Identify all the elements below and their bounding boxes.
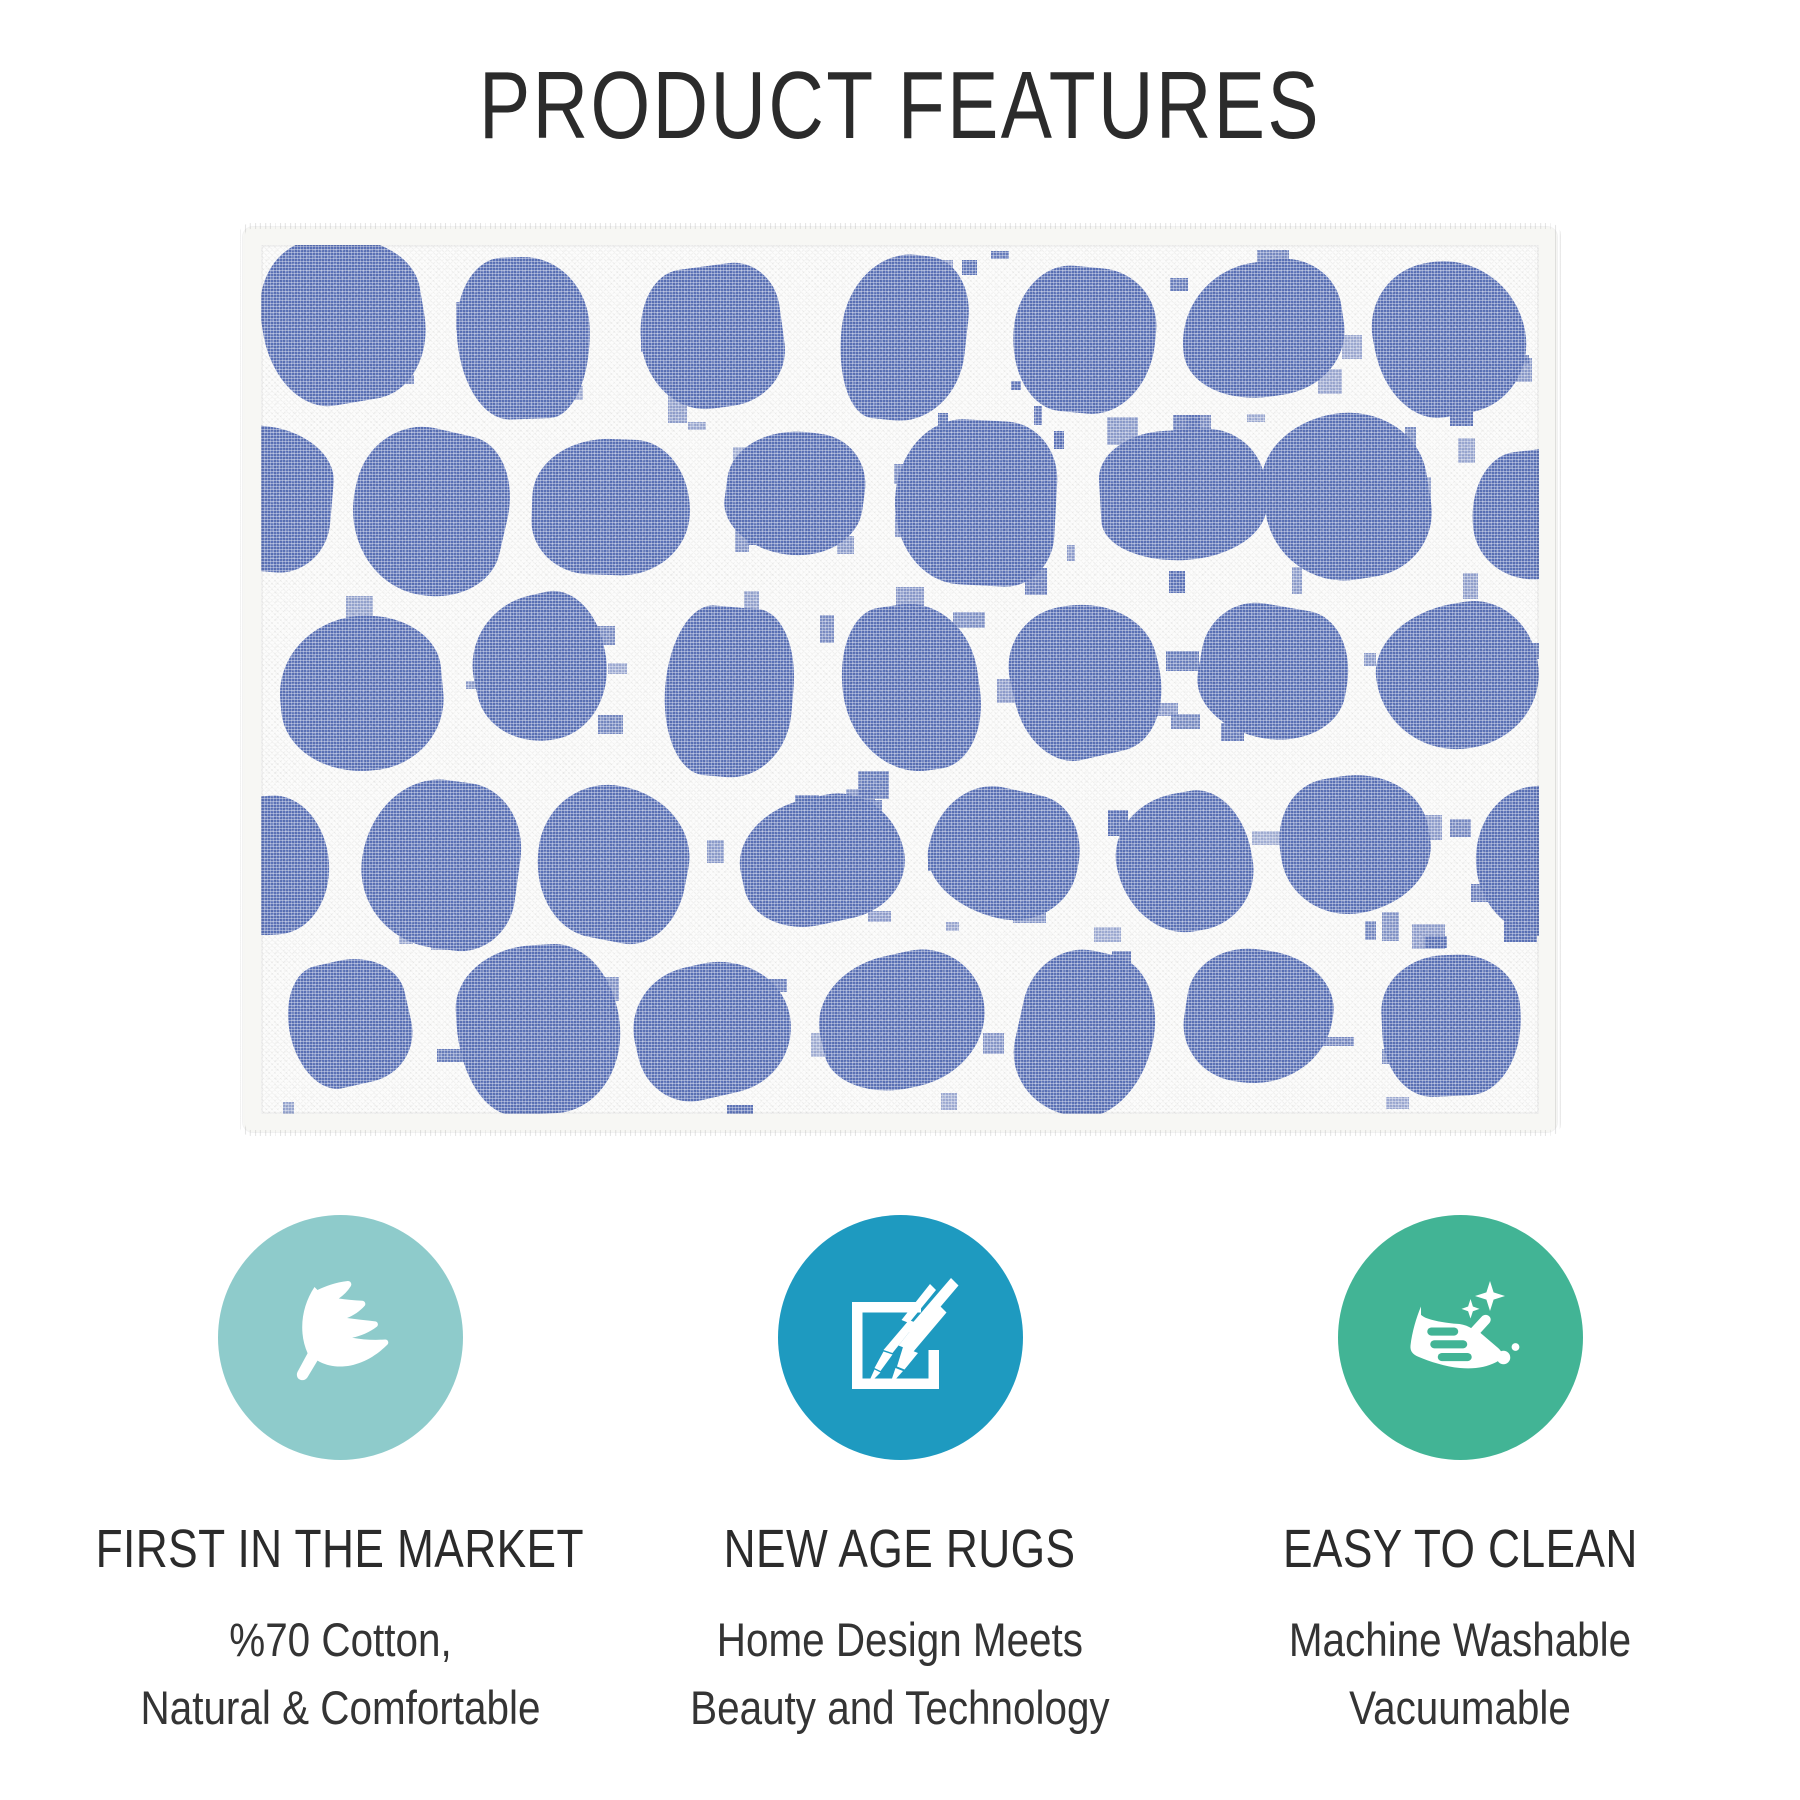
feature-list: FIRST IN THE MARKET %70 Cotton, Natural …	[0, 1215, 1800, 1742]
rug-pattern-shape	[1268, 245, 1451, 253]
rug-pattern-step	[1042, 689, 1052, 709]
rug-pattern-shape	[1366, 592, 1539, 762]
rug-pattern-shape	[1001, 939, 1169, 1114]
rug-pattern-step	[1221, 723, 1244, 741]
rug-pattern-shape	[261, 421, 338, 578]
feature-subtitle-line: Vacuumable	[1289, 1674, 1631, 1742]
rug-pattern-step	[1011, 381, 1021, 390]
rug-pattern-step	[1450, 819, 1471, 837]
rug-pattern-step	[1004, 873, 1021, 898]
rug-pattern-step	[668, 395, 687, 423]
rug-pattern-step	[707, 840, 724, 863]
rug-pattern-step	[1422, 477, 1431, 504]
rug-pattern-step	[283, 1102, 294, 1114]
rug-pattern-step	[1227, 825, 1237, 847]
rug-pattern-shape	[530, 437, 692, 578]
rug-pattern-step	[811, 1033, 839, 1057]
rug-pattern-step	[547, 881, 566, 895]
feature-subtitle-line: Natural & Comfortable	[140, 1674, 540, 1742]
rug-pattern-step	[953, 612, 985, 628]
rug-pattern-shape	[352, 770, 531, 958]
rug-pattern-shape	[277, 949, 422, 1098]
rug-pattern-step	[602, 977, 619, 1001]
rug-pattern-step	[764, 979, 787, 992]
rug-pattern-step	[1065, 688, 1090, 701]
rug-pattern-step	[868, 911, 891, 922]
rug-pattern-step	[1181, 877, 1199, 885]
rug-pattern-step	[1025, 568, 1047, 595]
rug-pattern-shape	[658, 602, 800, 782]
feature-title: NEW AGE RUGS	[724, 1522, 1076, 1576]
rug-pattern-step	[1187, 415, 1211, 438]
rug-pattern-step	[727, 1105, 753, 1114]
rug-pattern-step	[325, 988, 333, 1011]
feature-item-first-in-the-market: FIRST IN THE MARKET %70 Cotton, Natural …	[60, 1215, 620, 1742]
feature-subtitle: %70 Cotton, Natural & Comfortable	[140, 1606, 540, 1742]
rug-pattern-step	[1364, 653, 1376, 666]
rug-pattern-step	[1247, 414, 1265, 422]
feature-subtitle: Machine Washable Vacuumable	[1289, 1606, 1631, 1742]
rug-pattern-step	[1321, 339, 1335, 348]
rug-pattern-shape	[553, 1113, 731, 1114]
rug-pattern-step	[417, 819, 441, 837]
rug-pattern-step	[912, 457, 935, 485]
rug-pattern-step	[983, 1033, 1004, 1054]
rug-pattern-step	[466, 681, 478, 689]
rug-pattern-step	[566, 386, 583, 400]
rug-pattern-step	[862, 800, 882, 828]
rug-pattern-step	[305, 700, 337, 716]
rug-pattern-step	[592, 800, 609, 813]
rug-pattern-step	[1257, 987, 1283, 1011]
rug-pattern-step	[1124, 298, 1138, 317]
rug-pattern-step	[1504, 914, 1537, 942]
rug-pattern-step	[437, 1049, 468, 1062]
rug-pattern-step	[1252, 831, 1280, 845]
rug-pattern-shape	[1270, 764, 1441, 925]
rug-pattern-step	[906, 490, 937, 500]
rug-pattern-step	[891, 727, 917, 741]
rug-pattern-step	[1171, 714, 1200, 729]
rug-pattern-shape	[524, 773, 701, 953]
rug-pattern-step	[689, 1032, 701, 1048]
rug-pattern-step	[608, 663, 627, 674]
rug-pattern-step	[651, 337, 660, 350]
rug-pattern-step	[1014, 793, 1032, 810]
rug-pattern-step	[667, 1073, 701, 1082]
rug-pattern-step	[550, 1056, 570, 1081]
feature-subtitle-line: Beauty and Technology	[690, 1674, 1110, 1742]
rug-pattern-step	[1109, 989, 1124, 1015]
rug-pattern-step	[1382, 1049, 1399, 1064]
rug-pattern-step	[894, 464, 913, 484]
rug-pattern-step	[584, 626, 615, 645]
rug-pattern-step	[747, 536, 767, 545]
cleaning-hand-icon-badge	[1338, 1215, 1583, 1460]
rug-pattern-step	[1534, 459, 1539, 477]
rug-pattern-step	[1342, 335, 1362, 359]
rug-pattern-step	[288, 872, 319, 883]
rug-pattern-step	[1458, 438, 1475, 463]
feature-subtitle-line: %70 Cotton,	[140, 1606, 540, 1674]
feature-subtitle-line: Home Design Meets	[690, 1606, 1110, 1674]
rug-pattern-step	[699, 393, 722, 404]
feather-icon-badge	[218, 1215, 463, 1460]
rug-pattern-shape	[335, 414, 523, 610]
rug-pattern-shape	[453, 940, 625, 1114]
rug-pattern-step	[617, 841, 650, 864]
rug-pattern-step	[1045, 346, 1057, 357]
rug-pattern-step	[1471, 884, 1488, 902]
feature-title: EASY TO CLEAN	[1283, 1522, 1638, 1576]
rug-pattern-step	[928, 853, 945, 871]
rug-pattern-step	[962, 260, 977, 275]
rug-pattern-shape	[1175, 940, 1340, 1095]
rug-pattern-step	[1059, 294, 1080, 314]
rug-pattern-step	[1122, 331, 1152, 357]
rug-pattern-shape	[1106, 782, 1263, 942]
rug-pattern-step	[1318, 369, 1342, 394]
rug-pattern-step	[1127, 514, 1140, 532]
rug-pattern-step	[938, 413, 948, 439]
rug-pattern-step	[946, 922, 959, 931]
feature-subtitle-line: Machine Washable	[1289, 1606, 1631, 1674]
rug-pattern-step	[1432, 971, 1454, 997]
design-pen-icon-badge	[778, 1215, 1023, 1460]
rug-pattern-step	[649, 1062, 665, 1073]
feather-icon	[265, 1263, 415, 1413]
rug-pattern-step	[1134, 844, 1157, 853]
rug-pattern-step	[735, 524, 749, 552]
rug-pattern-step	[867, 674, 888, 683]
rug-pattern-step	[952, 420, 973, 446]
rug-pattern-step	[926, 984, 949, 1009]
rug-pattern-shape	[621, 947, 804, 1112]
rug-pattern-step	[744, 591, 759, 612]
rug-pattern-step	[1358, 844, 1380, 864]
rug-pattern-step	[896, 587, 924, 611]
rug-pattern-step	[1425, 936, 1447, 948]
rug-pattern-step	[1014, 543, 1031, 555]
rug-pattern-step	[1440, 635, 1459, 662]
rug-pattern-step	[1107, 417, 1138, 445]
rug-pattern-step	[683, 301, 695, 323]
rug-pattern-step	[733, 447, 749, 468]
rug-pattern-step	[1067, 545, 1075, 561]
rug-pattern-shape	[891, 415, 1060, 588]
rug-pattern-step	[1258, 308, 1278, 320]
rug-pattern-step	[1365, 921, 1376, 940]
rug-pattern-step	[1420, 815, 1442, 840]
rug-pattern-shape	[261, 792, 333, 940]
rug-pattern-step	[1509, 358, 1532, 382]
rug-pattern-step	[1166, 651, 1199, 671]
rug-pattern-step	[1432, 348, 1451, 377]
rug-pattern-shape	[1189, 594, 1359, 751]
rug-pattern-step	[1094, 927, 1121, 942]
rug-pattern-step	[1108, 810, 1128, 836]
page-title: PRODUCT FEATURES	[180, 58, 1620, 154]
rug-pattern-step	[1405, 427, 1416, 453]
rug-pattern-step	[900, 1010, 928, 1036]
rug-pattern-step	[308, 1011, 326, 1026]
rug-pattern-step	[795, 795, 819, 817]
rug-pattern-step	[944, 474, 965, 491]
rug-pattern-step	[1463, 573, 1478, 599]
rug-pattern-step	[941, 1093, 957, 1110]
rug-pattern-step	[329, 364, 339, 379]
rug-pattern-step	[927, 260, 953, 288]
rug-pattern-step	[1253, 966, 1269, 982]
rug-pattern-step	[484, 660, 507, 688]
rug-pattern-step	[598, 715, 623, 734]
rug-pattern-shape	[1464, 441, 1539, 586]
rug-pattern-step	[353, 981, 368, 989]
feature-item-easy-to-clean: EASY TO CLEAN Machine Washable Vacuumabl…	[1180, 1215, 1740, 1742]
rug-pattern-step	[456, 302, 485, 330]
rug-pattern-step	[1170, 278, 1188, 291]
rug-pattern-step	[396, 375, 414, 384]
rug-pattern-step	[1306, 791, 1314, 821]
rug-pattern-step	[1257, 250, 1289, 275]
rug-pattern-step	[346, 596, 373, 626]
rug-pattern-step	[1459, 287, 1475, 315]
product-image	[243, 227, 1557, 1132]
rug-pattern-step	[1391, 374, 1415, 384]
rug-pattern-step	[431, 941, 452, 950]
rug-pattern-step	[1112, 951, 1131, 973]
rug-pattern-shape	[261, 1113, 361, 1114]
feature-subtitle: Home Design Meets Beauty and Technology	[690, 1606, 1110, 1742]
rug-pattern-step	[1120, 646, 1129, 674]
rug-pattern-shape	[1097, 425, 1271, 564]
rug-pattern-step	[895, 515, 912, 537]
rug-pattern-step	[399, 935, 413, 944]
rug-pattern-step	[901, 328, 917, 341]
rug-pattern-step	[847, 342, 857, 357]
rug-pattern-step	[997, 679, 1025, 703]
feature-item-new-age-rugs: NEW AGE RUGS Home Design Meets Beauty an…	[620, 1215, 1180, 1742]
rug-pattern-step	[820, 615, 834, 643]
feature-title: FIRST IN THE MARKET	[96, 1522, 584, 1576]
rug-pattern-step	[1323, 1037, 1354, 1046]
rug-pattern	[261, 245, 1539, 1114]
rug-pattern-step	[948, 667, 977, 689]
design-pen-icon	[825, 1263, 975, 1413]
rug-pattern-step	[1292, 567, 1302, 594]
rug-pattern-shape	[1360, 247, 1537, 428]
rug-pattern-step	[1102, 636, 1130, 644]
rug-pattern-step	[991, 251, 1009, 259]
rug-pattern-step	[1169, 571, 1185, 593]
cleaning-hand-icon	[1385, 1263, 1535, 1413]
rug-pattern-step	[1450, 407, 1473, 426]
rug-pattern-shape	[273, 608, 450, 777]
rug-pattern-step	[688, 422, 706, 430]
rug-pattern-step	[1511, 643, 1539, 659]
rug-pattern-step	[837, 536, 854, 554]
rug-pattern-step	[399, 669, 415, 678]
rug-pattern-step	[867, 693, 881, 708]
rug-pattern-step	[628, 874, 658, 900]
rug-pattern-step	[273, 343, 291, 356]
rug-pattern-step	[317, 655, 344, 669]
rug-pattern-step	[1164, 882, 1182, 905]
rug-pattern-step	[1382, 912, 1399, 941]
rug-pattern-step	[1054, 431, 1064, 449]
rug-pattern-shape	[261, 245, 436, 415]
rug-pattern-step	[1386, 1097, 1409, 1109]
rug-surface	[243, 227, 1557, 1132]
rug-pattern-step	[1013, 904, 1046, 923]
rug-pattern-step	[1094, 696, 1108, 712]
rug-pattern-step	[387, 487, 413, 496]
rug-pattern-step	[1034, 406, 1042, 425]
